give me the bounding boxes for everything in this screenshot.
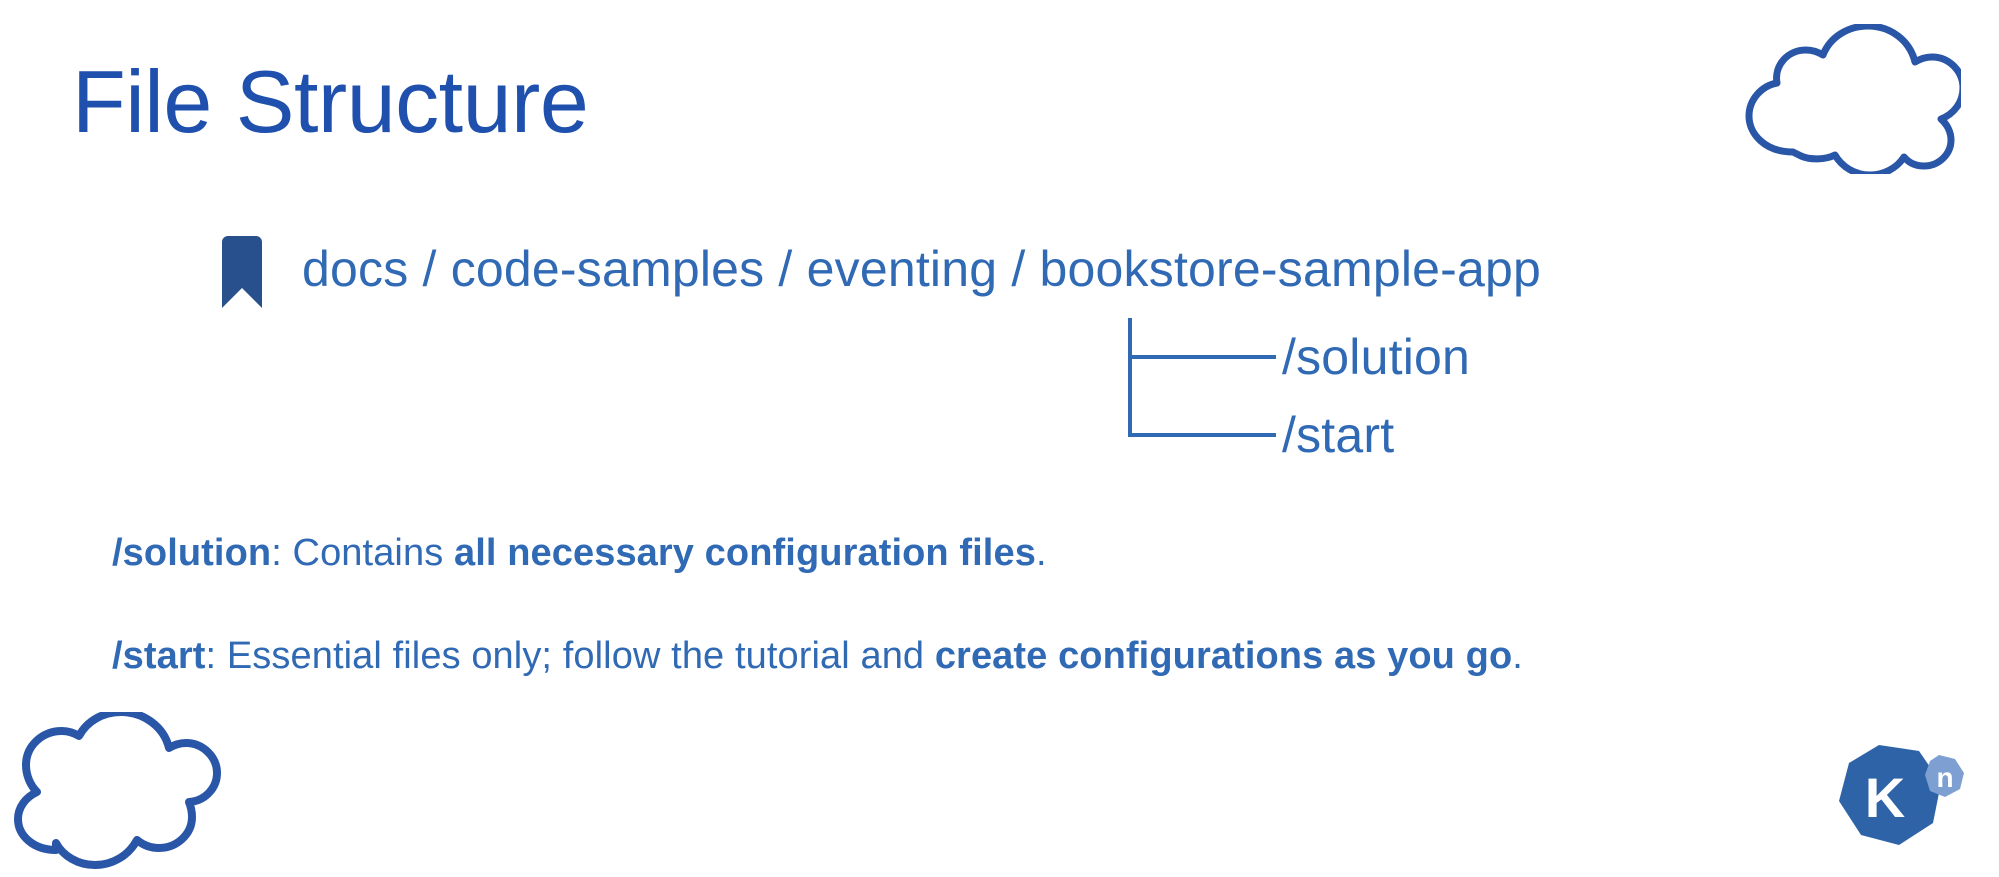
tree-branch-elbow-icon xyxy=(1128,396,1280,474)
breadcrumb: docs / code-samples / eventing / booksto… xyxy=(218,232,1541,310)
knative-logo-letter: K xyxy=(1865,766,1905,829)
description-solution: /solution: Contains all necessary config… xyxy=(112,530,1047,578)
tree-item-start: /start xyxy=(1128,396,1470,474)
description-emphasis: all necessary configuration files xyxy=(454,532,1036,574)
slide-canvas: File Structure docs / code-samples / eve… xyxy=(0,0,1999,877)
description-start: /start: Essential files only; follow the… xyxy=(112,633,1523,681)
cloud-icon xyxy=(1733,24,1961,164)
description-term: /solution xyxy=(112,532,271,574)
knative-logo-badge-letter: n xyxy=(1936,762,1953,793)
description-period: . xyxy=(1036,532,1047,574)
description-emphasis: create configurations as you go xyxy=(935,635,1512,677)
breadcrumb-path: docs / code-samples / eventing / booksto… xyxy=(302,232,1541,294)
tree-item-label: /start xyxy=(1282,410,1394,460)
knative-logo: K n xyxy=(1827,737,1967,855)
cloud-icon xyxy=(0,712,224,872)
description-term: /start xyxy=(112,635,206,677)
tree-item-label: /solution xyxy=(1282,332,1470,382)
description-period: . xyxy=(1512,635,1523,677)
description-connector: : Essential files only; follow the tutor… xyxy=(206,635,935,677)
directory-tree: /solution /start xyxy=(1128,318,1470,474)
tree-item-solution: /solution xyxy=(1128,318,1470,396)
tree-branch-tee-icon xyxy=(1128,318,1280,396)
bookmark-icon xyxy=(218,234,266,310)
description-connector: : Contains xyxy=(271,532,454,574)
page-title: File Structure xyxy=(72,56,588,148)
